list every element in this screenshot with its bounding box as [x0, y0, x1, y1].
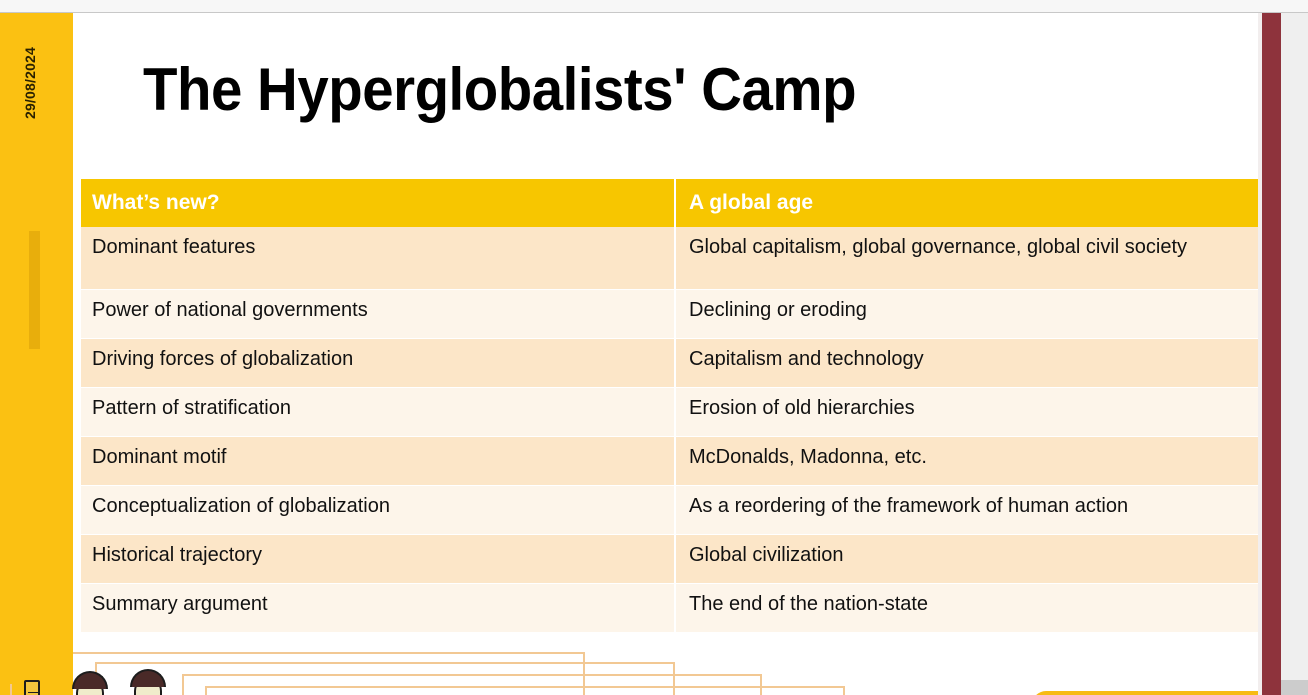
- book-icon: [24, 680, 40, 695]
- scrollbar-track[interactable]: [1281, 13, 1308, 695]
- table-row: Driving forces of globalization Capitali…: [81, 338, 1258, 387]
- person-avatar: [128, 669, 168, 695]
- table-cell-value: Capitalism and technology: [675, 338, 1258, 387]
- cta-pill-button[interactable]: [1032, 691, 1258, 695]
- table-row: Conceptualization of globalization As a …: [81, 485, 1258, 534]
- bottom-decoration: [0, 650, 1258, 695]
- slide-accent-bar: [1262, 13, 1281, 695]
- table-body: Dominant features Global capitalism, glo…: [81, 227, 1258, 632]
- scrollbar-thumb[interactable]: [1281, 680, 1308, 695]
- person-avatar: [70, 671, 110, 695]
- table-cell-value: Global capitalism, global governance, gl…: [675, 227, 1258, 289]
- table-cell-label: Historical trajectory: [81, 534, 675, 583]
- page-title: The Hyperglobalists' Camp: [143, 58, 856, 121]
- person-hair: [130, 669, 166, 687]
- table-cell-label: Dominant features: [81, 227, 675, 289]
- comparison-table: What’s new? A global age Dominant featur…: [81, 179, 1258, 633]
- table-cell-label: Driving forces of globalization: [81, 338, 675, 387]
- table-row: Summary argument The end of the nation-s…: [81, 583, 1258, 632]
- table-cell-label: Summary argument: [81, 583, 675, 632]
- window-top-chrome: [0, 0, 1308, 13]
- table-cell-label: Power of national governments: [81, 289, 675, 338]
- table-cell-label: Conceptualization of globalization: [81, 485, 675, 534]
- table-cell-value: As a reordering of the framework of huma…: [675, 485, 1258, 534]
- person-hair: [72, 671, 108, 689]
- sidebar-tick-mark: [29, 231, 40, 349]
- slide-viewport: 29/08/2024 The Hyperglobalists' Camp Wha…: [0, 0, 1308, 695]
- table-row: Pattern of stratification Erosion of old…: [81, 387, 1258, 436]
- slide-canvas: 29/08/2024 The Hyperglobalists' Camp Wha…: [0, 13, 1258, 695]
- table-row: Historical trajectory Global civilizatio…: [81, 534, 1258, 583]
- table-cell-value: The end of the nation-state: [675, 583, 1258, 632]
- slide-date-label: 29/08/2024: [22, 18, 38, 148]
- table-cell-value: Global civilization: [675, 534, 1258, 583]
- table-header-row: What’s new? A global age: [81, 179, 1258, 227]
- stair-rect: [205, 686, 845, 695]
- table-header-whats-new: What’s new?: [81, 179, 675, 227]
- table-cell-label: Dominant motif: [81, 436, 675, 485]
- table-row: Dominant motif McDonalds, Madonna, etc.: [81, 436, 1258, 485]
- slide-sidebar: 29/08/2024: [0, 13, 73, 695]
- table-cell-value: McDonalds, Madonna, etc.: [675, 436, 1258, 485]
- sidebar-foot-block: [0, 650, 73, 684]
- table-row: Power of national governments Declining …: [81, 289, 1258, 338]
- table-row: Dominant features Global capitalism, glo…: [81, 227, 1258, 289]
- table-cell-value: Declining or eroding: [675, 289, 1258, 338]
- table-cell-value: Erosion of old hierarchies: [675, 387, 1258, 436]
- table-header-a-global-age: A global age: [675, 179, 1258, 227]
- table-cell-label: Pattern of stratification: [81, 387, 675, 436]
